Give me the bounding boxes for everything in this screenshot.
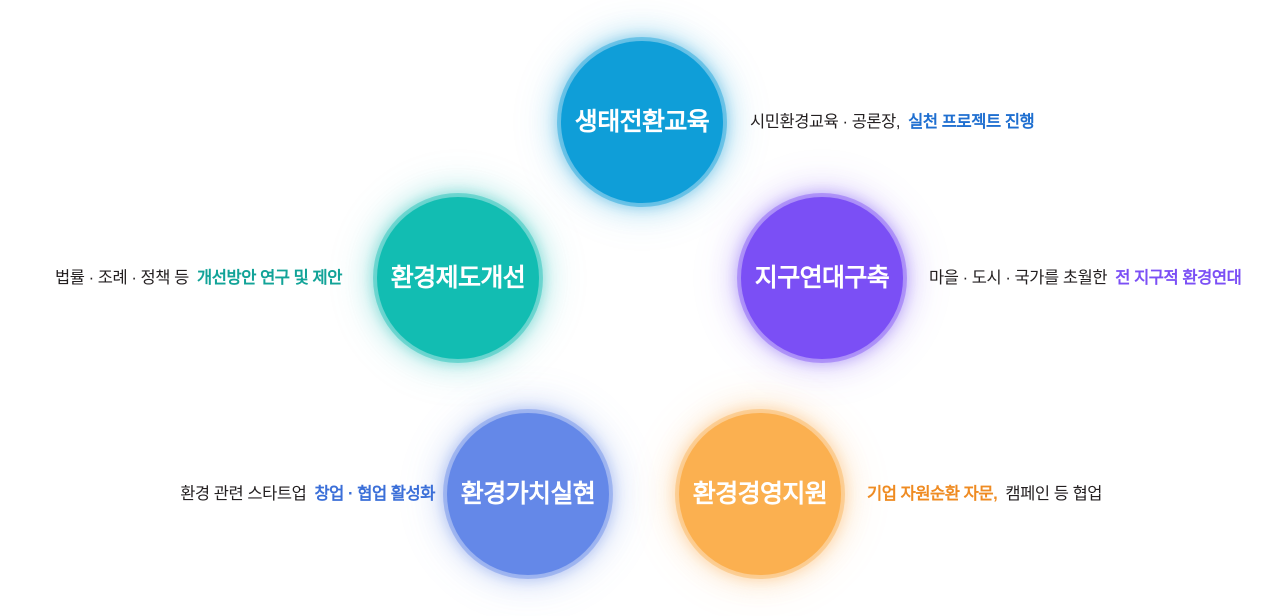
node-global-solidarity[interactable]: 지구연대구축	[741, 197, 903, 359]
node-environment-value[interactable]: 환경가치실현	[447, 413, 609, 575]
description-plain-policy-improvement: 법률 · 조례 · 정책 등	[55, 269, 189, 287]
node-label-global-solidarity: 지구연대구축	[755, 266, 889, 291]
node-label-eco-education: 생태전환교육	[575, 110, 709, 135]
diagram-canvas: 생태전환교육 환경제도개선 지구연대구축 환경가치실현 환경경영지원 시민환경교…	[0, 0, 1287, 616]
node-green-management[interactable]: 환경경영지원	[679, 413, 841, 575]
node-eco-education[interactable]: 생태전환교육	[561, 41, 723, 203]
description-policy-improvement: 법률 · 조례 · 정책 등 개선방안 연구 및 제안	[55, 267, 342, 289]
description-highlight-policy-improvement: 개선방안 연구 및 제안	[197, 269, 342, 287]
node-label-policy-improvement: 환경제도개선	[391, 266, 525, 291]
description-global-solidarity: 마을 · 도시 · 국가를 초월한 전 지구적 환경연대	[929, 267, 1241, 289]
description-environment-value: 환경 관련 스타트업 창업 · 협업 활성화	[180, 483, 435, 505]
description-highlight-eco-education: 실천 프로젝트 진행	[908, 113, 1034, 131]
node-label-green-management: 환경경영지원	[693, 482, 827, 507]
description-plain-global-solidarity: 마을 · 도시 · 국가를 초월한	[929, 269, 1107, 287]
description-plain-environment-value: 환경 관련 스타트업	[180, 485, 306, 503]
node-label-environment-value: 환경가치실현	[461, 482, 595, 507]
description-green-management: 기업 자원순환 자문, 캠페인 등 협업	[867, 483, 1102, 505]
description-eco-education: 시민환경교육 · 공론장, 실천 프로젝트 진행	[750, 111, 1034, 133]
description-plain-green-management: 캠페인 등 협업	[1005, 485, 1102, 503]
description-highlight-green-management: 기업 자원순환 자문,	[867, 485, 997, 503]
description-highlight-environment-value: 창업 · 협업 활성화	[314, 485, 435, 503]
description-plain-eco-education: 시민환경교육 · 공론장,	[750, 113, 900, 131]
description-highlight-global-solidarity: 전 지구적 환경연대	[1115, 269, 1241, 287]
node-policy-improvement[interactable]: 환경제도개선	[377, 197, 539, 359]
